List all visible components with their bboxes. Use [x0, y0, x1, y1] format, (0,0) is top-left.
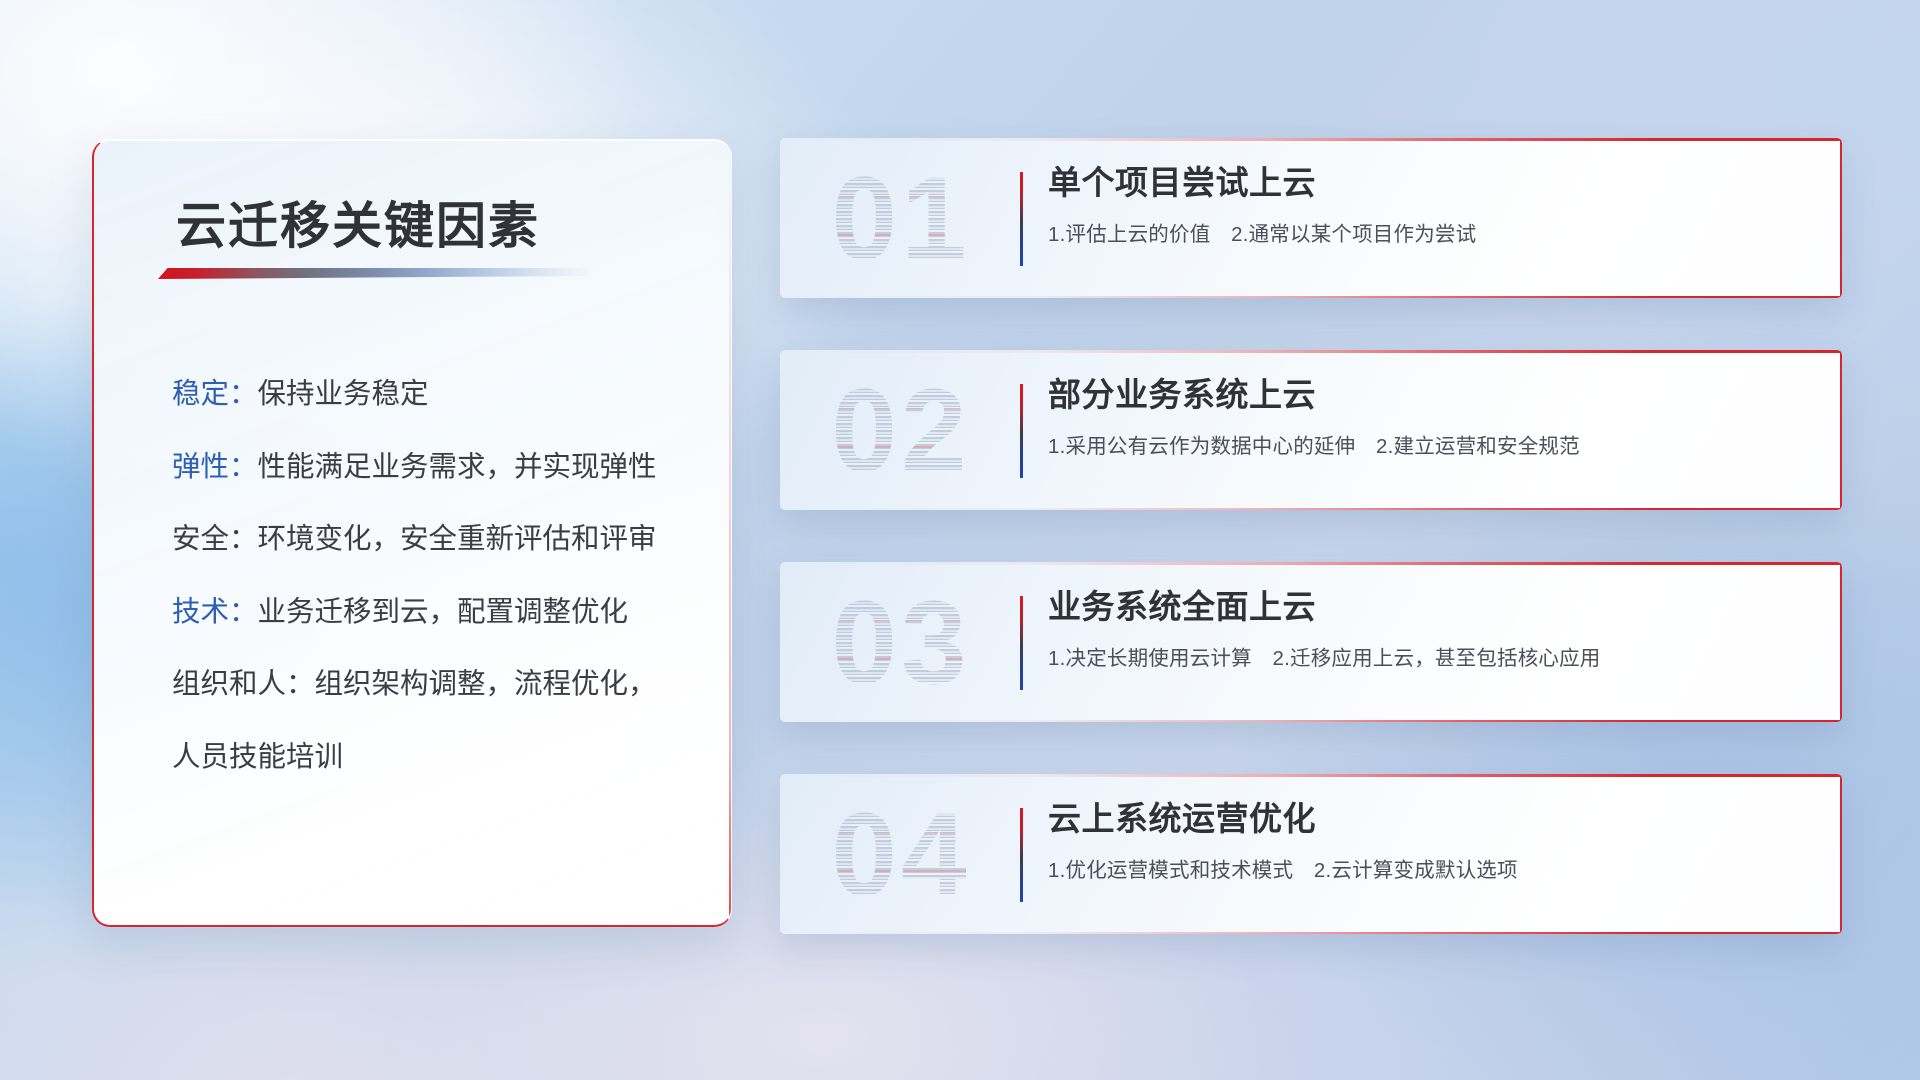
factor-value: 环境变化，安全重新评估和评审: [258, 523, 657, 555]
factor-value: 组织架构调整，流程优化，: [315, 668, 657, 700]
factor-key: 技术：: [172, 596, 258, 628]
card-title: 单个项目尝试上云: [1048, 162, 1812, 203]
card-bottom-accent-border: [780, 508, 1842, 511]
card-description: 1.优化运营模式和技术模式 2.云计算变成默认选项: [1048, 853, 1812, 883]
card-divider-line: [1020, 172, 1023, 266]
key-factors-panel: 云迁移关键因素 稳定：保持业务稳定弹性：性能满足业务需求，并实现弹性安全：环境变…: [92, 139, 732, 927]
stage-card-list: 0101单个项目尝试上云1.评估上云的价值 2.通常以某个项目作为尝试0202部…: [780, 138, 1842, 934]
card-right-accent-border: [1840, 774, 1843, 934]
factor-value: 人员技能培训: [172, 741, 343, 773]
slide-stage: 云迁移关键因素 稳定：保持业务稳定弹性：性能满足业务需求，并实现弹性安全：环境变…: [0, 0, 1920, 1080]
factor-row: 稳定：保持业务稳定: [172, 380, 703, 409]
factor-key: 组织和人：: [172, 668, 315, 700]
card-body: 部分业务系统上云1.采用公有云作为数据中心的延伸 2.建立运营和安全规范: [1048, 374, 1812, 459]
card-description: 1.决定长期使用云计算 2.迁移应用上云，甚至包括核心应用: [1048, 641, 1812, 671]
factor-key: 安全：: [172, 523, 258, 555]
card-divider-line: [1020, 808, 1023, 902]
card-description: 1.采用公有云作为数据中心的延伸 2.建立运营和安全规范: [1048, 429, 1812, 459]
card-right-accent-border: [1840, 562, 1843, 722]
card-divider-line: [1020, 384, 1023, 478]
card-step-number-glitch-overlay: 03: [806, 572, 996, 714]
card-body: 单个项目尝试上云1.评估上云的价值 2.通常以某个项目作为尝试: [1048, 162, 1812, 247]
factor-value: 性能满足业务需求，并实现弹性: [258, 451, 657, 483]
stage-card[interactable]: 0303业务系统全面上云1.决定长期使用云计算 2.迁移应用上云，甚至包括核心应…: [780, 562, 1842, 722]
card-top-accent-border: [780, 562, 1842, 565]
card-description: 1.评估上云的价值 2.通常以某个项目作为尝试: [1048, 217, 1812, 247]
card-bottom-accent-border: [780, 932, 1842, 935]
card-top-accent-border: [780, 350, 1842, 353]
factor-value: 业务迁移到云，配置调整优化: [258, 596, 629, 628]
factor-key: 稳定：: [172, 378, 258, 410]
card-step-number-glitch-overlay: 04: [806, 784, 996, 926]
card-title: 云上系统运营优化: [1048, 798, 1812, 839]
card-title: 部分业务系统上云: [1048, 374, 1812, 415]
card-bottom-accent-border: [780, 720, 1842, 723]
factor-row: 安全：环境变化，安全重新评估和评审: [172, 525, 703, 554]
card-bottom-accent-border: [780, 296, 1842, 299]
stage-card[interactable]: 0202部分业务系统上云1.采用公有云作为数据中心的延伸 2.建立运营和安全规范: [780, 350, 1842, 510]
card-title: 业务系统全面上云: [1048, 586, 1812, 627]
title-underline-accent: [158, 268, 594, 279]
factor-row: 弹性：性能满足业务需求，并实现弹性: [172, 453, 703, 482]
card-top-accent-border: [780, 138, 1842, 141]
card-right-accent-border: [1840, 350, 1843, 510]
card-divider-line: [1020, 596, 1023, 690]
stage-card[interactable]: 0101单个项目尝试上云1.评估上云的价值 2.通常以某个项目作为尝试: [780, 138, 1842, 298]
factor-row: 人员技能培训: [172, 743, 703, 772]
card-body: 云上系统运营优化1.优化运营模式和技术模式 2.云计算变成默认选项: [1048, 798, 1812, 883]
factor-row: 组织和人：组织架构调整，流程优化，: [172, 670, 703, 699]
card-top-accent-border: [780, 774, 1842, 777]
card-body: 业务系统全面上云1.决定长期使用云计算 2.迁移应用上云，甚至包括核心应用: [1048, 586, 1812, 671]
factor-value: 保持业务稳定: [258, 378, 429, 410]
factor-row: 技术：业务迁移到云，配置调整优化: [172, 598, 703, 627]
card-right-accent-border: [1840, 138, 1843, 298]
page-title: 云迁移关键因素: [176, 186, 540, 258]
card-step-number-glitch-overlay: 02: [806, 360, 996, 502]
card-step-number-glitch-overlay: 01: [806, 148, 996, 290]
factor-list: 稳定：保持业务稳定弹性：性能满足业务需求，并实现弹性安全：环境变化，安全重新评估…: [172, 380, 703, 771]
factor-key: 弹性：: [172, 451, 258, 483]
stage-card[interactable]: 0404云上系统运营优化1.优化运营模式和技术模式 2.云计算变成默认选项: [780, 774, 1842, 934]
